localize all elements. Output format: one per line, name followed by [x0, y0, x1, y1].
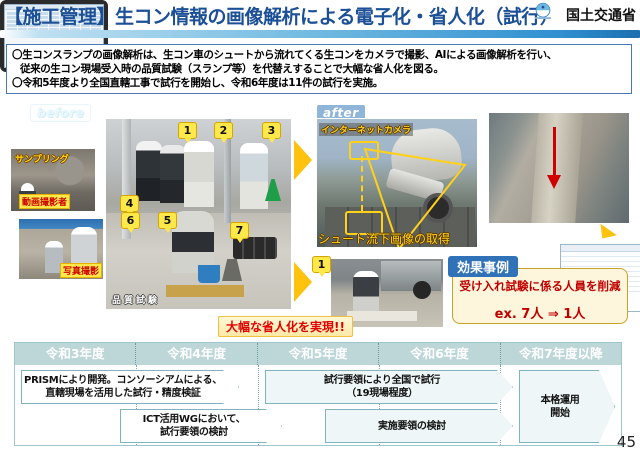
header-accent-bar: [0, 30, 640, 38]
test-bucket: [198, 265, 220, 283]
timeline-item-prism-line2: 直轄現場を活用した試行・精度検証: [45, 388, 200, 399]
ministry-name: 国土交通省: [566, 5, 636, 25]
timeline-item-full-operation: 本格運用 開始: [519, 370, 615, 443]
truck-bed: [381, 261, 441, 291]
timeline-item-nationwide-trial: 試行要領により全国で試行 （19現場程度）: [265, 370, 513, 404]
timeline-item-operation-line1: 本格運用: [541, 395, 580, 406]
mlit-logo-icon: [532, 2, 554, 24]
callout-1: 1: [178, 122, 197, 139]
transition-arrow-top: [294, 140, 312, 180]
report-header: [561, 245, 640, 252]
callout-3: 3: [262, 122, 281, 139]
data-flow-arrow: [594, 224, 617, 244]
page-title: 【施工管理】生コン情報の画像解析による電子化・省人化（試行）: [4, 2, 558, 29]
timeline-item-trial-line2: （19現場程度）: [346, 388, 418, 399]
caption-photoshoot: 写真撮影: [60, 263, 102, 278]
test-plate: [166, 285, 244, 297]
effect-figure: ex. 7人 ⇒ 1人: [453, 303, 627, 322]
worker-c: [184, 141, 214, 207]
photo-mixer-truck: インターネットカメラ: [316, 118, 478, 248]
effect-example-title: 効果事例: [448, 256, 518, 277]
field-desk: [347, 311, 417, 321]
flow-direction-arrow: [553, 127, 556, 179]
truck-tire: [413, 281, 431, 299]
caption-quality-test: 品質試験: [110, 293, 162, 306]
caption-internet-camera: インターネットカメラ: [319, 123, 413, 136]
result-banner: 大幅な省人化を実現!!: [218, 316, 353, 337]
badge-before: before: [30, 104, 91, 122]
concrete-stream: [531, 112, 583, 224]
timeline-col-r7: 令和7年度以降: [501, 343, 621, 365]
timeline-item-ict-wg-line2: 試行要領の検討: [160, 427, 228, 438]
caption-videographer: 動画撮影者: [19, 194, 70, 209]
worker-a: [136, 141, 162, 201]
worker-d: [240, 143, 268, 209]
summary-line-3: 〇令和5年度より全国直轄工事で試行を開始し、令和6年度は11件の試行を実施。: [12, 76, 626, 90]
transition-arrow-bottom: [294, 262, 312, 302]
callout-2: 2: [214, 122, 233, 139]
timeline-body: PRISMにより開発。コンソーシアムによる、 直轄現場を活用した試行・精度検証 …: [15, 365, 621, 445]
callout-7: 7: [230, 222, 249, 239]
slide-header: 【施工管理】生コン情報の画像解析による電子化・省人化（試行） 国土交通省: [0, 0, 640, 34]
slide-root: 【施工管理】生コン情報の画像解析による電子化・省人化（試行） 国土交通省 〇生コ…: [0, 0, 640, 453]
caption-sampling: サンプリング: [13, 152, 71, 165]
photo-sampling: サンプリング 動画撮影者: [10, 148, 96, 212]
roadmap-timeline: 令和3年度 令和4年度 令和5年度 令和6年度 令和7年度以降 PRISMにより…: [14, 342, 622, 446]
worker-bending: [172, 211, 214, 273]
timeline-col-r5: 令和5年度: [258, 343, 379, 365]
timeline-col-r6: 令和6年度: [379, 343, 500, 365]
timeline-item-prism: PRISMにより開発。コンソーシアムによる、 直轄現場を活用した試行・精度検証: [21, 370, 239, 404]
worker-b: [160, 145, 186, 203]
timeline-col-r4: 令和4年度: [136, 343, 257, 365]
callout-4: 4: [120, 195, 139, 212]
photo-photoshoot: 写真撮影: [18, 218, 104, 280]
callout-after-1: 1: [312, 256, 331, 273]
timeline-item-prism-line1: PRISMにより開発。コンソーシアムによる、: [24, 375, 222, 386]
callout-5: 5: [158, 212, 177, 229]
timeline-item-implementation-guideline: 実施要領の検討: [325, 409, 513, 443]
timeline-item-trial-line1: 試行要領により全国で試行: [324, 375, 440, 386]
summary-textbox: 〇生コンスランプの画像解析は、生コン車のシュートから流れてくる生コンをカメラで撮…: [6, 44, 632, 94]
photo-concrete-flow-closeup: [488, 112, 630, 224]
callout-6: 6: [121, 212, 140, 229]
timeline-item-ict-wg: ICT活用WGにおいて、 試行要領の検討: [120, 409, 282, 443]
summary-line-1: 〇生コンスランプの画像解析は、生コン車のシュートから流れてくる生コンをカメラで撮…: [12, 48, 626, 62]
timeline-item-operation-line2: 開始: [550, 408, 569, 419]
effect-description: 受け入れ試験に係る人員を削減: [453, 278, 627, 294]
timeline-item-guideline-line1: 実施要領の検討: [378, 420, 446, 433]
operator-person: [353, 271, 379, 315]
timeline-item-ict-wg-line1: ICT活用WGにおいて、: [143, 414, 246, 425]
page-number: 45: [617, 433, 636, 451]
timeline-header-row: 令和3年度 令和4年度 令和5年度 令和6年度 令和7年度以降: [15, 343, 621, 365]
timeline-col-r3: 令和3年度: [15, 343, 136, 365]
summary-line-2: 従来の生コン現場受入時の品質試験（スランプ等）を代替えすることで大幅な省人化を図…: [12, 62, 626, 76]
